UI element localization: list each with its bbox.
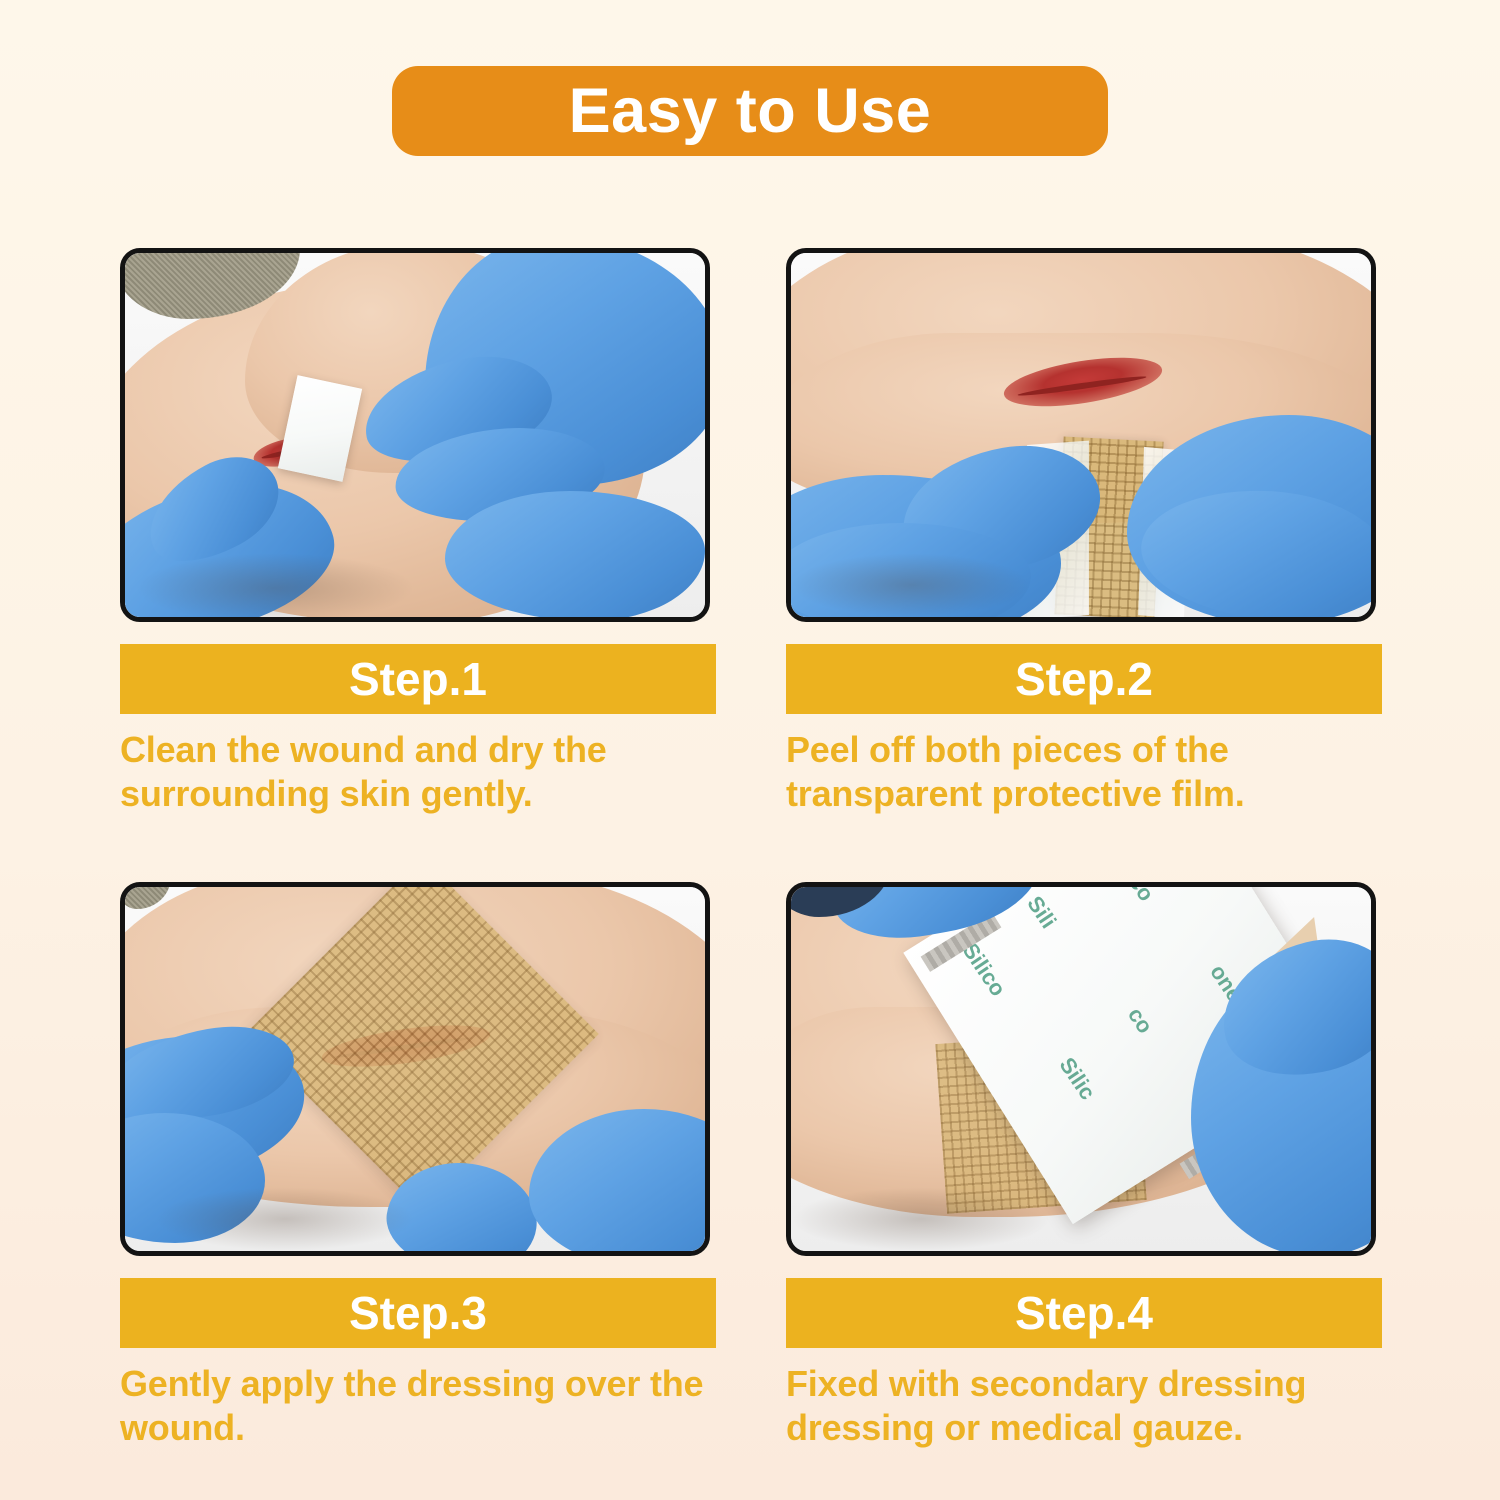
step-2-scene — [791, 253, 1371, 617]
step-card-4: Silico Sili Silico ne Silic co one — [786, 882, 1382, 1450]
step-4-label: Step.4 — [1015, 1290, 1153, 1336]
step-1-photo — [120, 248, 710, 622]
step-1-label: Step.1 — [349, 656, 487, 702]
page-title: Easy to Use — [569, 80, 932, 143]
steps-grid: Step.1 Clean the wound and dry the surro… — [120, 248, 1382, 1450]
arm-shadow — [135, 553, 415, 617]
step-4-label-bar: Step.4 — [786, 1278, 1382, 1348]
step-card-2: Step.2 Peel off both pieces of the trans… — [786, 248, 1382, 816]
step-4-caption: Fixed with secondary dressing dressing o… — [786, 1362, 1386, 1450]
step-1-caption: Clean the wound and dry the surrounding … — [120, 728, 720, 816]
step-card-3: Step.3 Gently apply the dressing over th… — [120, 882, 716, 1450]
step-3-caption: Gently apply the dressing over the wound… — [120, 1362, 720, 1450]
step-2-photo — [786, 248, 1376, 622]
step-3-photo — [120, 882, 710, 1256]
title-banner-container: Easy to Use — [0, 66, 1500, 156]
silicone-print-2: Sili — [1021, 891, 1061, 933]
step-4-scene: Silico Sili Silico ne Silic co one — [791, 887, 1371, 1251]
step-3-label-bar: Step.3 — [120, 1278, 716, 1348]
silicone-print-6: co — [1122, 1002, 1158, 1038]
step-4-photo: Silico Sili Silico ne Silic co one — [786, 882, 1376, 1256]
arm-shadow — [791, 1187, 1051, 1251]
step-2-label-bar: Step.2 — [786, 644, 1382, 714]
arm-shadow — [791, 553, 1031, 617]
silicone-print-5: Silic — [1054, 1053, 1101, 1105]
step-3-scene — [125, 887, 705, 1251]
step-2-label: Step.2 — [1015, 656, 1153, 702]
glove-right-lower-fingers — [445, 491, 705, 617]
step-1-scene — [125, 253, 705, 617]
title-banner: Easy to Use — [392, 66, 1108, 156]
step-1-label-bar: Step.1 — [120, 644, 716, 714]
silicone-print-3: Silico — [1105, 887, 1159, 906]
step-card-1: Step.1 Clean the wound and dry the surro… — [120, 248, 716, 816]
step-2-caption: Peel off both pieces of the transparent … — [786, 728, 1386, 816]
step-3-label: Step.3 — [349, 1290, 487, 1336]
arm-shadow — [155, 1187, 415, 1251]
